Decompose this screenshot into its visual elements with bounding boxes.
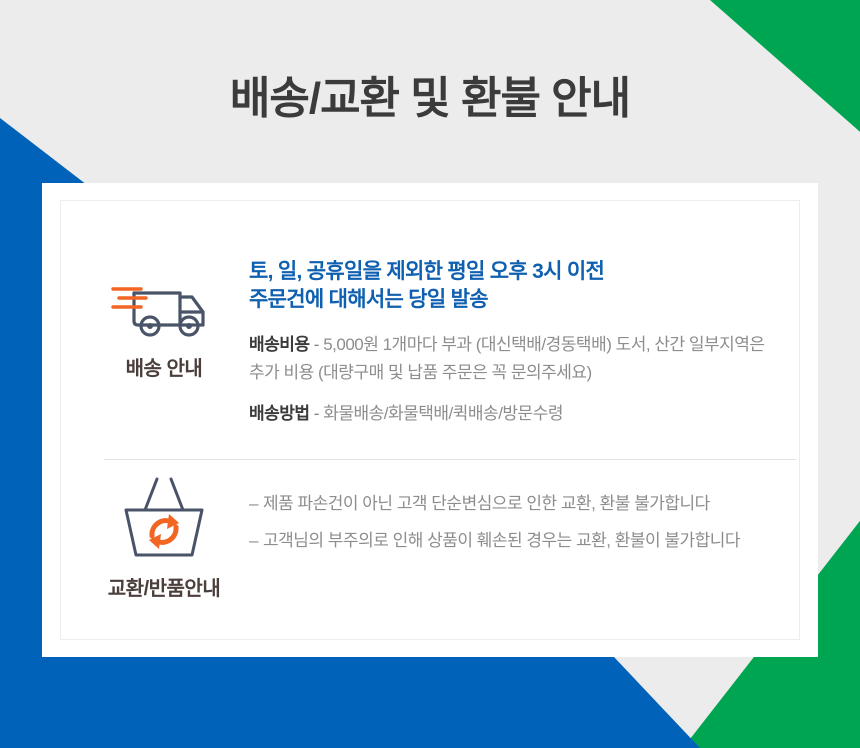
shipping-label: 배송 안내 [126,352,203,381]
shipping-method-line: 배송방법 - 화물배송/화물택배/퀵배송/방문수령 [249,400,779,428]
bullet-mark: – [249,527,263,554]
exchange-basket-icon [114,474,214,564]
shipping-icon-box [108,256,220,344]
shipping-lead-line-1: 토, 일, 공휴일을 제외한 평일 오후 3시 이전 [249,258,779,286]
truck-wheel-hub-right [186,323,192,329]
section-shipping: 배송 안내 토, 일, 공휴일을 제외한 평일 오후 3시 이전 주문건에 대해… [79,256,779,428]
shipping-text-column: 토, 일, 공휴일을 제외한 평일 오후 3시 이전 주문건에 대해서는 당일 … [249,256,779,428]
bullet-text: 제품 파손건이 아닌 고객 단순변심으로 인한 교환, 환불 불가합니다 [263,490,740,517]
shipping-icon-column: 배송 안내 [79,256,249,428]
exchange-label: 교환/반품안내 [108,572,220,601]
shipping-cost-value: 5,000원 1개마다 부과 (대신택배/경동택배) 도서, 산간 일부지역은 … [249,335,765,382]
shipping-method-value: 화물배송/화물택배/퀵배송/방문수령 [323,404,563,423]
bullet-text: 고객님의 부주의로 인해 상품이 훼손된 경우는 교환, 환불이 불가합니다 [263,527,740,554]
truck-wheel-hub-left [147,323,153,329]
info-card: 배송 안내 토, 일, 공휴일을 제외한 평일 오후 3시 이전 주문건에 대해… [42,183,818,657]
exchange-icon-box [114,476,214,564]
exchange-bullet-1: – 제품 파손건이 아닌 고객 단순변심으로 인한 교환, 환불 불가합니다 [249,490,740,517]
info-card-inner-border: 배송 안내 토, 일, 공휴일을 제외한 평일 오후 3시 이전 주문건에 대해… [60,200,800,640]
bullet-mark: – [249,490,263,517]
shipping-cost-dash: - [314,335,319,354]
exchange-arrows [149,514,179,549]
section-exchange: 교환/반품안내 – 제품 파손건이 아닌 고객 단순변심으로 인한 교환, 환불… [79,476,740,601]
exchange-bullet-2: – 고객님의 부주의로 인해 상품이 훼손된 경우는 교환, 환불이 불가합니다 [249,527,740,554]
exchange-icon-column: 교환/반품안내 [79,476,249,601]
exchange-text-column: – 제품 파손건이 아닌 고객 단순변심으로 인한 교환, 환불 불가합니다 –… [249,476,740,601]
section-divider [104,459,796,460]
shipping-lead-line-2: 주문건에 대해서는 당일 발송 [249,286,779,314]
shipping-method-key: 배송방법 [249,404,310,423]
shipping-cost-line: 배송비용 - 5,000원 1개마다 부과 (대신택배/경동택배) 도서, 산간… [249,331,779,386]
delivery-truck-icon [108,266,220,344]
shipping-method-dash: - [314,404,319,423]
shipping-cost-key: 배송비용 [249,335,310,354]
page-title: 배송/교환 및 환불 안내 [0,62,860,126]
